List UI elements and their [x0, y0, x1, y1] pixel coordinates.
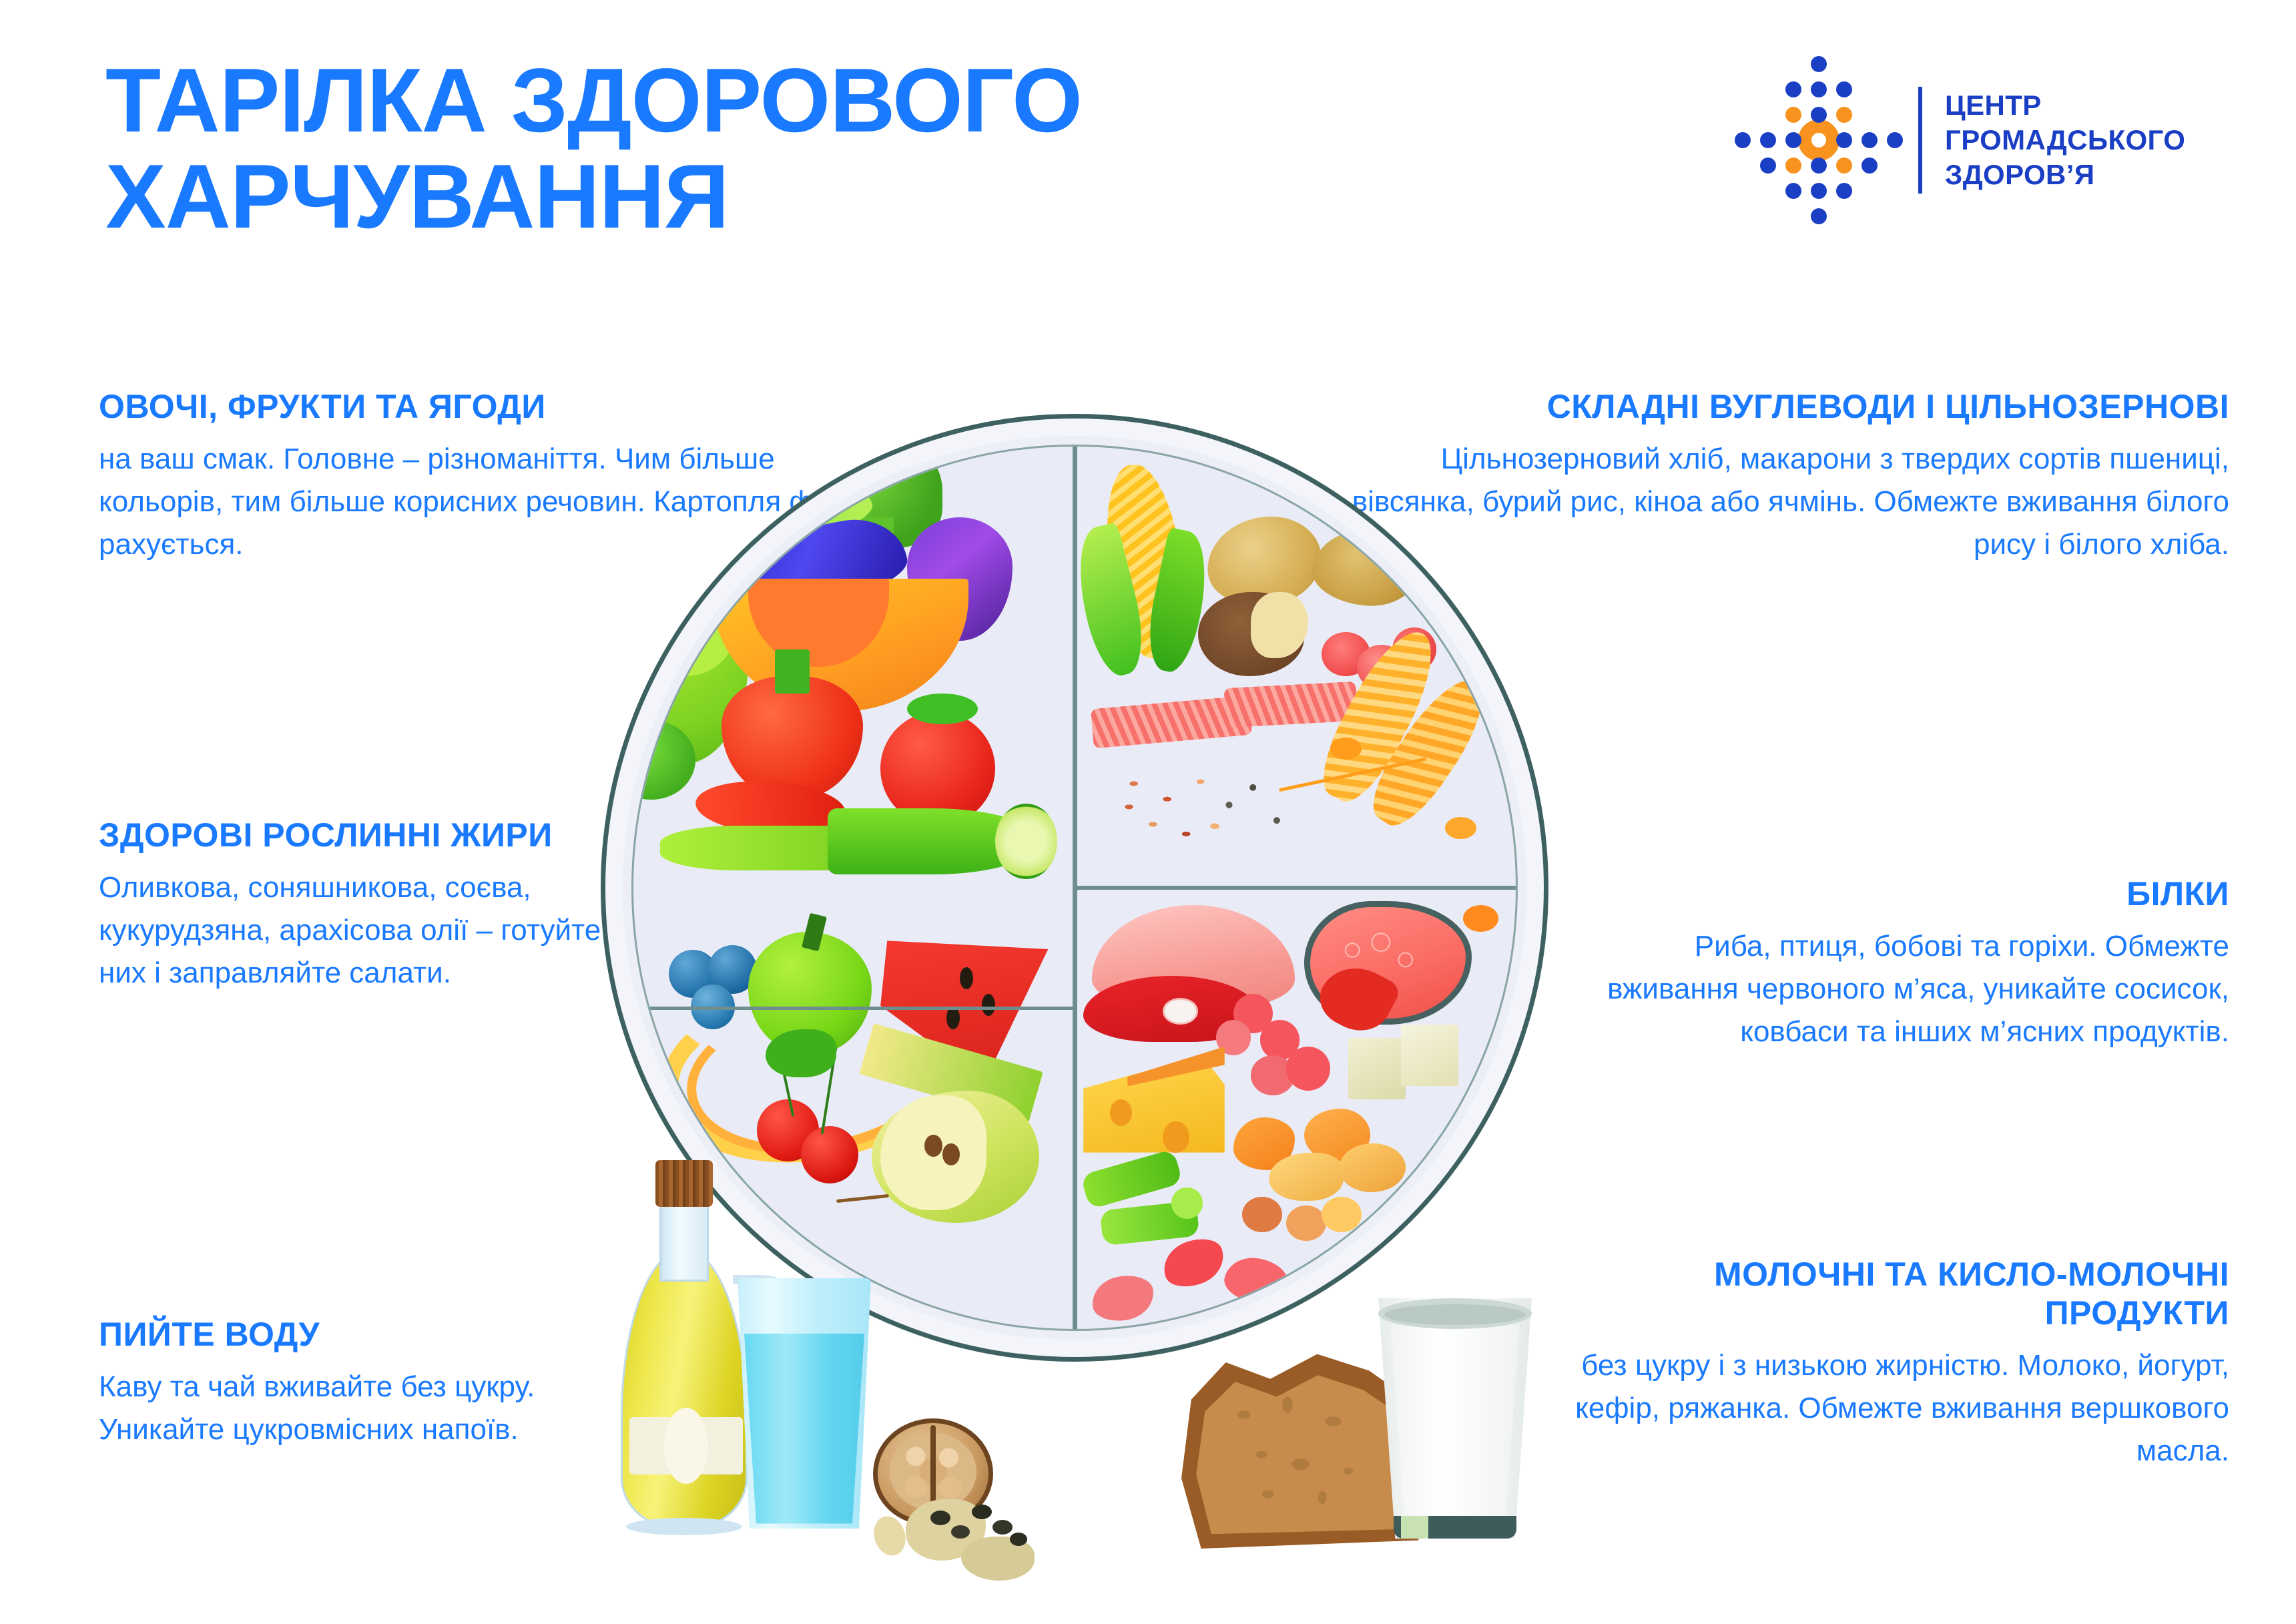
logo-text-line-3: ЗДОРОВ’Я	[1945, 158, 2185, 192]
plate-quadrant-proteins	[1075, 888, 1516, 1329]
walnut-kernel	[890, 1433, 976, 1510]
celery-icon	[660, 826, 854, 870]
seed-icon	[972, 1505, 992, 1519]
info-block-dairy-body: без цукру і з низькою жирністю. Молоко, …	[1575, 1344, 2229, 1473]
oil-bottle-base	[626, 1518, 742, 1535]
logo-divider	[1918, 87, 1922, 194]
logo-dot-blue	[1811, 158, 1827, 174]
cherry-leaf-icon	[766, 1029, 836, 1078]
oil-bottle-label	[629, 1417, 743, 1474]
water-glass-fill	[744, 1334, 864, 1524]
logo-orange-ring-icon	[1798, 119, 1839, 161]
info-block-dairy-heading: МОЛОЧНІ ТА КИСЛО-МОЛОЧНІ ПРОДУКТИ	[1575, 1255, 2229, 1332]
bread-crust	[1181, 1342, 1428, 1549]
info-block-water-body: Каву та чай вживайте без цукру. Уникайте…	[99, 1366, 646, 1451]
page-title-line-2: ХАРЧУВАННЯ	[105, 148, 1641, 244]
info-block-fats: ЗДОРОВІ РОСЛИННІ ЖИРИ Оливкова, соняшник…	[99, 816, 646, 995]
ham-bone-icon	[1163, 998, 1198, 1025]
logo-dot-orange	[1836, 158, 1852, 174]
logo-dot-orange	[1785, 158, 1801, 174]
tofu-cube-icon	[1348, 1038, 1406, 1100]
grain-kernel-icon	[1445, 817, 1476, 839]
bean-icon	[1157, 1232, 1229, 1293]
seed-icon	[1010, 1533, 1027, 1546]
page-title-line-1: ТАРІЛКА ЗДОРОВОГО	[105, 52, 1641, 148]
seed-icon	[961, 1537, 1035, 1581]
logo-dots-icon	[1742, 63, 1896, 217]
logo-text-line-2: ГРОМАДСЬКОГО	[1945, 123, 2185, 158]
logo-dot-blue	[1760, 132, 1776, 148]
info-block-fats-body: Оливкова, соняшникова, соєва, кукурудзян…	[99, 866, 646, 995]
nut-icon	[1463, 905, 1498, 932]
logo-dot-blue	[1785, 132, 1801, 148]
pear-stem-icon	[836, 1194, 889, 1203]
cherry-icon	[801, 1126, 858, 1183]
logo-dot-blue	[1811, 107, 1827, 123]
plate-quadrant-fruits	[633, 888, 1075, 1329]
seed-icon	[906, 1499, 986, 1561]
page-title: ТАРІЛКА ЗДОРОВОГО ХАРЧУВАННЯ	[105, 52, 1641, 244]
logo-dot-blue	[1836, 132, 1852, 148]
info-block-proteins-body: Риба, птиця, бобові та горіхи. Обмежте в…	[1602, 925, 2229, 1054]
logo-dot-blue	[1887, 132, 1903, 148]
nut-icon	[1340, 1143, 1406, 1192]
pasta-fusilli-icon	[1223, 682, 1358, 728]
plate-surface	[631, 445, 1518, 1331]
walnut-shell	[873, 1418, 993, 1525]
logo-dot-blue	[1811, 208, 1827, 224]
bean-icon	[1089, 1272, 1157, 1324]
logo-text-line-1: ЦЕНТР	[1945, 88, 2185, 123]
tomato-leaf-icon	[907, 694, 978, 724]
nut-icon	[1242, 1197, 1281, 1232]
watermelon-seed-icon	[960, 967, 973, 989]
plate-quadrant-grains	[1075, 447, 1516, 888]
cheese-hole-icon	[1163, 1121, 1189, 1152]
info-block-water-heading: ПИЙТЕ ВОДУ	[99, 1315, 646, 1354]
seed-icon	[869, 1512, 910, 1559]
bread-slice-icon	[1181, 1342, 1428, 1549]
plate-divider-horizontal-right	[1075, 886, 1516, 890]
info-block-water: ПИЙТЕ ВОДУ Каву та чай вживайте без цукр…	[99, 1315, 646, 1451]
logo-dot-blue	[1785, 81, 1801, 97]
zucchini-cut-icon	[995, 804, 1057, 878]
logo-dot-orange	[1836, 107, 1852, 123]
shrimp-icon	[1286, 1047, 1330, 1091]
plate-quadrant-vegetables	[633, 447, 1075, 888]
seeds-cluster-icon	[868, 1478, 1041, 1572]
info-block-dairy: МОЛОЧНІ ТА КИСЛО-МОЛОЧНІ ПРОДУКТИ без цу…	[1575, 1255, 2229, 1473]
seed-icon	[992, 1520, 1013, 1535]
potato-icon	[1309, 525, 1422, 611]
logo-wordmark: ЦЕНТР ГРОМАДСЬКОГО ЗДОРОВ’Я	[1945, 88, 2185, 192]
info-block-proteins-heading: БІЛКИ	[1602, 874, 2229, 913]
logo-dot-orange	[1785, 107, 1801, 123]
pepper-stem-icon	[775, 649, 810, 694]
plate-divider-horizontal-left	[633, 1007, 1075, 1010]
seed-icon	[930, 1511, 950, 1525]
seed-icon	[951, 1525, 970, 1539]
logo-dot-blue	[1861, 132, 1878, 148]
milk-glass-base	[1394, 1516, 1516, 1539]
walnut-seam	[930, 1425, 936, 1519]
green-pea-icon	[1171, 1187, 1202, 1218]
logo-dot-blue	[1811, 56, 1827, 72]
logo-dot-blue	[1760, 158, 1776, 174]
healthy-eating-plate-illustration	[601, 414, 1548, 1362]
organization-logo: ЦЕНТР ГРОМАДСЬКОГО ЗДОРОВ’Я	[1742, 63, 2185, 217]
pear-seed-icon	[924, 1135, 942, 1157]
logo-dot-blue	[1811, 81, 1827, 97]
bread-crumb	[1196, 1368, 1414, 1534]
info-block-proteins: БІЛКИ Риба, птиця, бобові та горіхи. Обм…	[1602, 874, 2229, 1054]
logo-dot-blue	[1785, 183, 1801, 199]
nut-icon	[1322, 1197, 1361, 1232]
nut-icon	[1286, 1205, 1326, 1241]
watermelon-seed-icon	[982, 994, 995, 1016]
grain-kernel-icon	[1330, 738, 1361, 760]
bean-icon	[1286, 1276, 1344, 1316]
tofu-cube-icon	[1401, 1025, 1458, 1087]
cheese-hole-icon	[1110, 1099, 1132, 1126]
bean-icon	[1221, 1252, 1290, 1308]
green-pea-pod-icon	[1081, 1149, 1183, 1209]
info-block-fats-heading: ЗДОРОВІ РОСЛИННІ ЖИРИ	[99, 816, 646, 854]
logo-dot-blue	[1861, 158, 1878, 174]
logo-dot-blue	[1735, 132, 1751, 148]
logo-dot-blue	[1811, 183, 1827, 199]
logo-dot-blue	[1836, 81, 1852, 97]
grain-scatter-icon	[1110, 764, 1348, 861]
walnut-icon	[873, 1418, 993, 1525]
logo-dot-blue	[1836, 183, 1852, 199]
